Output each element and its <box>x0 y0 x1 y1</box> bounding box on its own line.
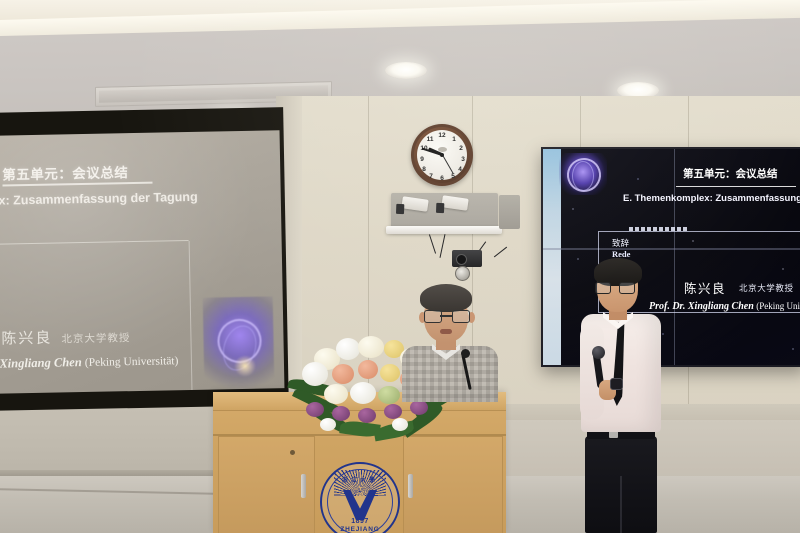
person-at-lectern <box>392 282 510 400</box>
person-trousers <box>585 436 657 533</box>
dome-sensor-icon <box>455 266 470 281</box>
lectern-microphone <box>457 352 471 396</box>
tv-slide-subtitle-de: E. Themenkomplex: Zusammenfassung de <box>623 193 800 204</box>
clock-numeral: 3 <box>458 155 468 165</box>
lectern-knob <box>290 450 295 455</box>
ceiling-downlight <box>385 62 427 79</box>
emblem-name: ZHEJIANG UNIVERSITY <box>322 526 398 533</box>
slide-outline-box <box>0 240 191 394</box>
lectern-handle[interactable] <box>301 474 306 498</box>
clock-numeral: 8 <box>419 165 429 175</box>
emblem-year: 1897 <box>322 518 398 525</box>
microphone-head <box>592 346 605 359</box>
clock-numeral: 6 <box>437 174 447 184</box>
eyeglasses-icon <box>452 310 470 323</box>
light-bar <box>386 226 502 234</box>
slide-speaker-name-de: Dr. Xingliang Chen (Peking Universität) <box>0 353 179 372</box>
wall-speaker <box>499 195 520 229</box>
lectern-panel-right <box>403 436 503 533</box>
clock-face: 12 1 2 3 4 5 6 7 8 9 10 11 <box>417 130 467 180</box>
wristwatch-icon <box>610 378 623 390</box>
globe-graphic-icon <box>559 153 607 195</box>
clock-numeral: 12 <box>437 131 447 141</box>
emblem-text-cn: 浙江大學 <box>322 475 398 484</box>
lectern-handle[interactable] <box>408 474 413 498</box>
tv-speaker-name-de: Prof. Dr. Xingliang Chen (Peking Univ <box>649 301 800 312</box>
slide-title-cn: 第五单元：会议总结 <box>2 161 128 183</box>
wall-clock: 12 1 2 3 4 5 6 7 8 9 10 11 <box>411 124 473 186</box>
tv-speaker-affiliation-de: (Peking Univ <box>756 301 800 311</box>
slide-speaker-affiliation-cn: 北京大学教授 <box>61 330 130 346</box>
clock-numeral: 9 <box>417 155 427 165</box>
globe-graphic-icon <box>203 296 275 393</box>
clock-numeral: 2 <box>456 144 466 154</box>
slide-speaker-name-cn: 陈兴良 <box>1 327 52 349</box>
slide-subtitle-de: komplex: Zusammenfassung der Tagung <box>0 190 198 209</box>
university-emblem: 浙江大學 1897 ZHEJIANG UNIVERSITY <box>320 462 400 533</box>
eyeglasses-icon <box>619 282 635 294</box>
tv-section-label-cn: 致辞 <box>612 237 629 249</box>
tv-slide-divider <box>676 186 796 187</box>
person-standing-presenter <box>573 262 669 533</box>
eyeglasses-bridge <box>440 315 452 317</box>
person-mouth <box>440 329 452 334</box>
eyeglasses-icon <box>595 282 611 294</box>
tv-speaker-name-cn: 陈兴良 <box>684 278 726 297</box>
clock-center-pin <box>440 153 444 157</box>
slide-speaker-affiliation-de: (Peking Universität) <box>85 355 179 369</box>
projection-screen: 第五单元：会议总结 komplex: Zusammenfassung der T… <box>0 130 284 394</box>
clock-numeral: 11 <box>425 135 435 145</box>
slide-speaker-name-de-text: Dr. Xingliang Chen <box>0 355 82 371</box>
security-camera-icon <box>452 250 482 267</box>
lecture-hall-photo: 第五单元：会议总结 komplex: Zusammenfassung der T… <box>0 0 800 533</box>
slide-divider <box>2 182 152 186</box>
person-hair <box>420 284 472 312</box>
tv-slide-title-cn: 第五单元：会议总结 <box>683 166 778 181</box>
tv-speaker-affiliation-cn: 北京大学教授 <box>739 282 794 294</box>
